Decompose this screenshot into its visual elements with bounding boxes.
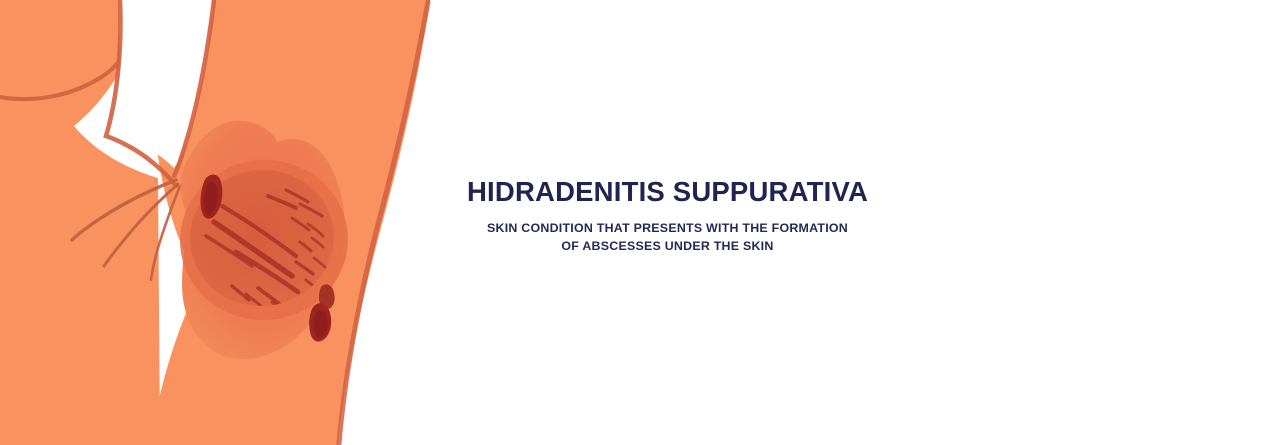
subtitle-line-1: SKIN CONDITION THAT PRESENTS WITH THE FO… [440, 220, 895, 238]
page-subtitle: SKIN CONDITION THAT PRESENTS WITH THE FO… [440, 220, 895, 256]
subtitle-line-2: OF ABSCESSES UNDER THE SKIN [440, 238, 895, 256]
armpit-illustration [0, 0, 460, 445]
page-title: HIDRADENITIS SUPPURATIVA [440, 176, 895, 208]
text-block: HIDRADENITIS SUPPURATIVA SKIN CONDITION … [440, 176, 895, 256]
banner-root: HIDRADENITIS SUPPURATIVA SKIN CONDITION … [0, 0, 1280, 445]
